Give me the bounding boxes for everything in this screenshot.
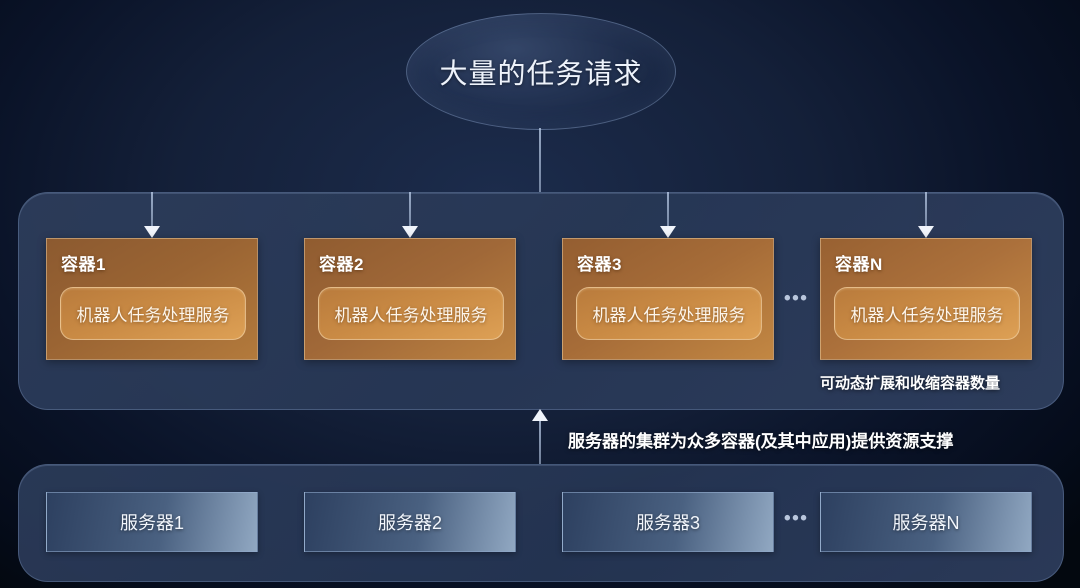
support-connector-line — [539, 420, 541, 464]
arrow-head-container-n — [918, 226, 934, 238]
arrow-line-container-3 — [667, 192, 669, 226]
arrow-head-container-2 — [402, 226, 418, 238]
container-box-1[interactable]: 容器1 机器人任务处理服务 — [46, 238, 258, 360]
support-arrow-head — [532, 409, 548, 421]
server-label-1: 服务器1 — [120, 509, 184, 535]
server-label-2: 服务器2 — [378, 509, 442, 535]
container-title-1: 容器1 — [61, 250, 106, 275]
container-box-3[interactable]: 容器3 机器人任务处理服务 — [562, 238, 774, 360]
service-label-2: 机器人任务处理服务 — [335, 301, 488, 326]
container-title-2: 容器2 — [319, 250, 364, 275]
container-title-3: 容器3 — [577, 250, 622, 275]
diagram-canvas: 大量的任务请求 容器1 机器人任务处理服务 容器2 机器人任务处理服务 容器3 … — [0, 0, 1080, 588]
service-label-3: 机器人任务处理服务 — [593, 301, 746, 326]
server-label-3: 服务器3 — [636, 509, 700, 535]
trunk-connector-line — [539, 128, 541, 192]
arrow-line-container-1 — [151, 192, 153, 226]
container-title-n: 容器N — [835, 250, 883, 275]
server-label-n: 服务器N — [893, 509, 960, 535]
task-request-label: 大量的任务请求 — [439, 52, 642, 92]
server-ellipsis: ••• — [784, 508, 808, 530]
server-box-2[interactable]: 服务器2 — [304, 492, 516, 552]
container-scaling-caption: 可动态扩展和收缩容器数量 — [820, 372, 1000, 393]
service-box-n[interactable]: 机器人任务处理服务 — [834, 287, 1020, 340]
container-ellipsis: ••• — [784, 288, 808, 310]
service-box-1[interactable]: 机器人任务处理服务 — [60, 287, 246, 340]
server-box-n[interactable]: 服务器N — [820, 492, 1032, 552]
service-label-n: 机器人任务处理服务 — [851, 301, 1004, 326]
service-box-2[interactable]: 机器人任务处理服务 — [318, 287, 504, 340]
arrow-head-container-3 — [660, 226, 676, 238]
server-box-1[interactable]: 服务器1 — [46, 492, 258, 552]
task-request-ellipse: 大量的任务请求 — [406, 13, 676, 130]
server-box-3[interactable]: 服务器3 — [562, 492, 774, 552]
service-box-3[interactable]: 机器人任务处理服务 — [576, 287, 762, 340]
server-cluster-caption: 服务器的集群为众多容器(及其中应用)提供资源支撑 — [568, 427, 953, 452]
service-label-1: 机器人任务处理服务 — [77, 301, 230, 326]
arrow-line-container-2 — [409, 192, 411, 226]
arrow-head-container-1 — [144, 226, 160, 238]
container-box-n[interactable]: 容器N 机器人任务处理服务 — [820, 238, 1032, 360]
container-box-2[interactable]: 容器2 机器人任务处理服务 — [304, 238, 516, 360]
arrow-line-container-n — [925, 192, 927, 226]
